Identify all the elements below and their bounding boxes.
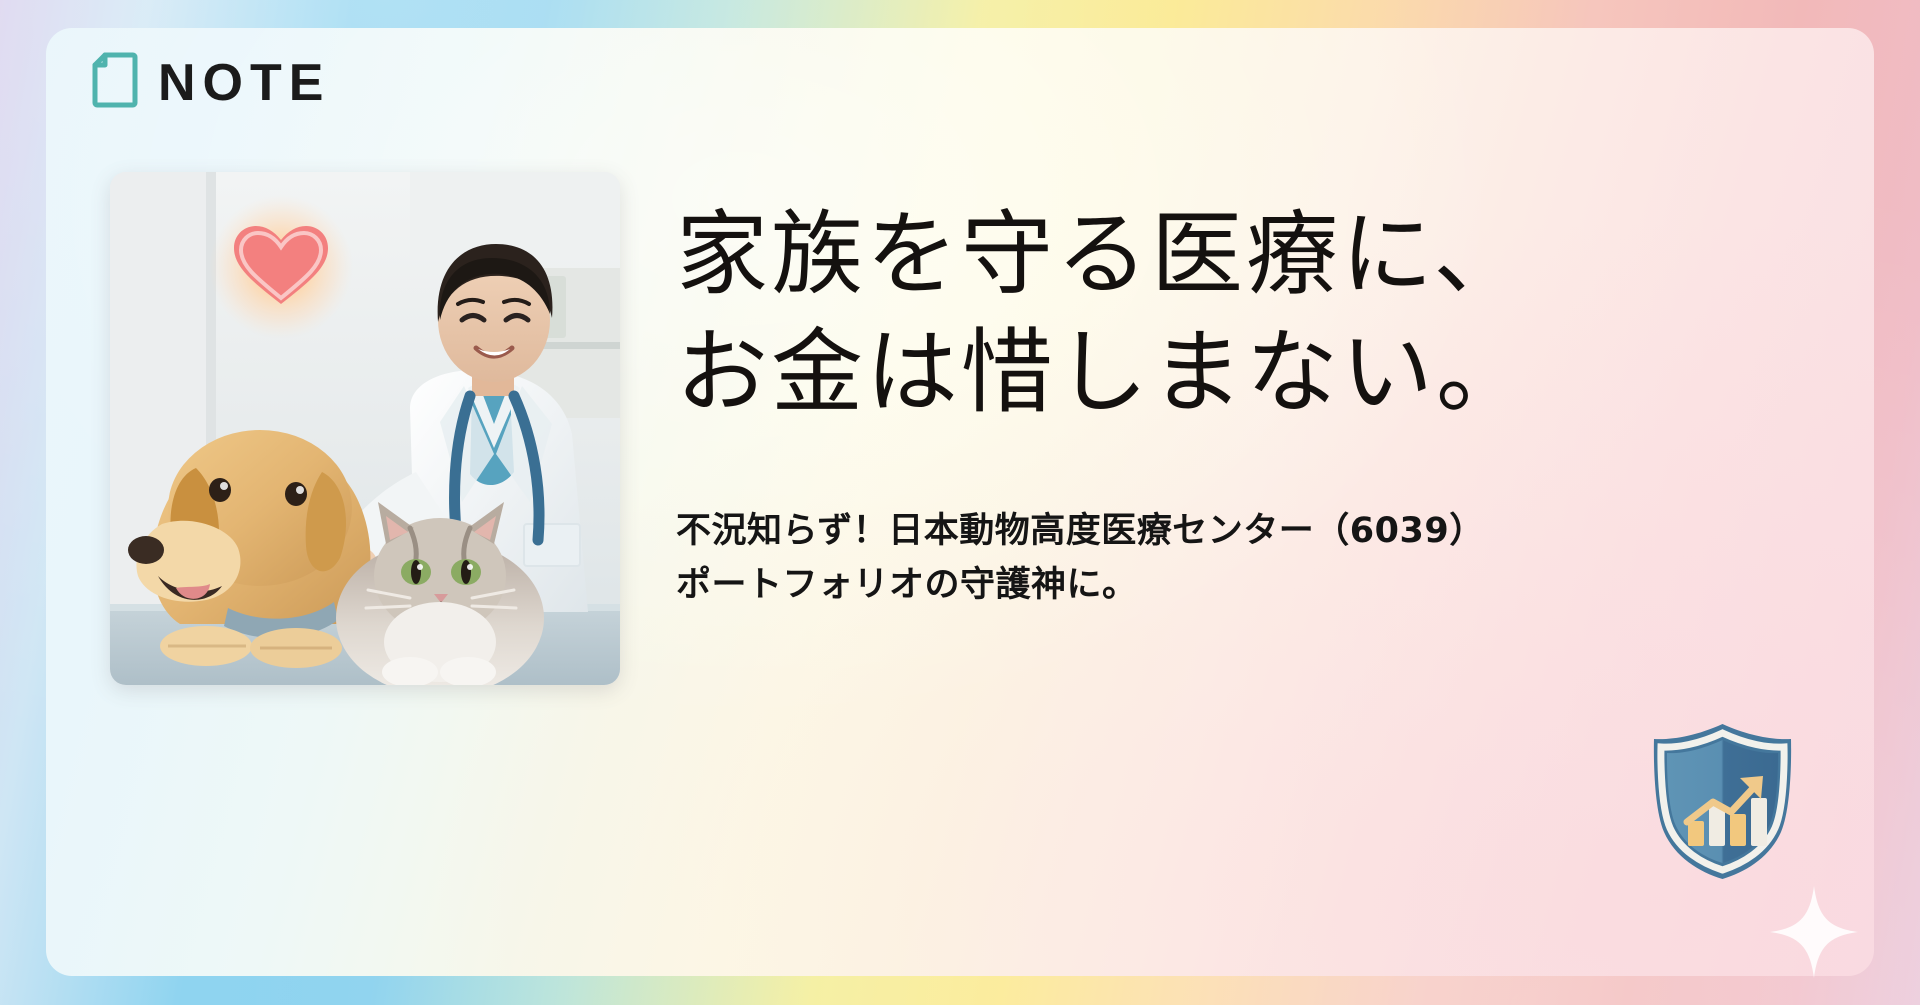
subtitle-line-1: 不況知らず！日本動物高度医療センター（6039） xyxy=(676,504,1826,558)
brand-logo[interactable]: NOTE xyxy=(92,52,330,113)
document-page-icon xyxy=(92,52,138,113)
poster-canvas: NOTE xyxy=(0,0,1920,1005)
text-content: 家族を守る医療に、 お金は惜しまない。 不況知らず！日本動物高度医療センター（6… xyxy=(676,196,1826,612)
shield-growth-chart-icon xyxy=(1641,718,1804,884)
headline-line-1: 家族を守る医療に、 xyxy=(676,196,1826,314)
subtitle-line-2: ポートフォリオの守護神に。 xyxy=(676,558,1826,612)
sparkle-icon xyxy=(1768,884,1860,980)
brand-wordmark: NOTE xyxy=(158,57,330,109)
headline-line-2: お金は惜しまない。 xyxy=(676,314,1826,432)
subtitle: 不況知らず！日本動物高度医療センター（6039） ポートフォリオの守護神に。 xyxy=(676,504,1826,613)
hero-photo xyxy=(110,172,620,685)
page-title: 家族を守る医療に、 お金は惜しまない。 xyxy=(676,196,1826,432)
